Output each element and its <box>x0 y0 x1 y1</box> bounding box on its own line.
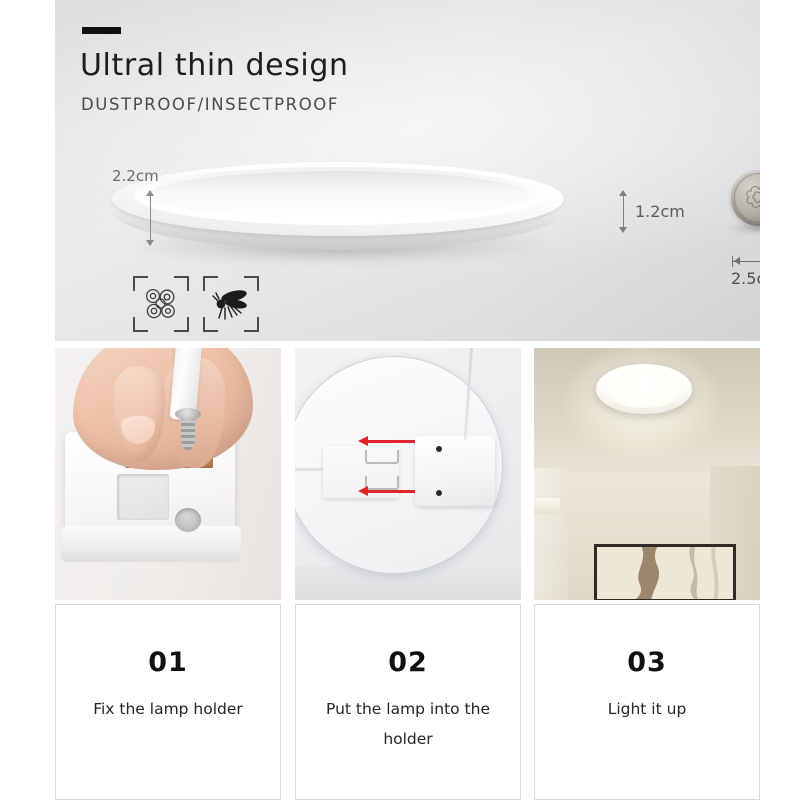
lamp-lit-face <box>603 368 685 408</box>
step-number: 02 <box>388 647 428 678</box>
step-description: Put the lamp into the holder <box>312 694 505 754</box>
coin-shadow <box>727 224 760 234</box>
arrowhead-left-icon <box>734 257 740 265</box>
step-number: 01 <box>148 647 188 678</box>
dimension-label-edge: 1.2cm <box>635 202 685 221</box>
mount-clip <box>365 476 399 490</box>
step-caption-3: 03 Light it up <box>534 604 760 800</box>
arrowhead-down-icon <box>619 227 627 233</box>
step-caption-2: 02 Put the lamp into the holder <box>295 604 521 800</box>
dimension-label-coin: 2.5cm <box>731 269 760 288</box>
artwork-abstract-icon <box>597 547 733 599</box>
step-card-1: 01 Fix the lamp holder <box>55 348 281 800</box>
arrowhead-up-icon <box>146 190 154 196</box>
direction-arrow-icon <box>367 440 415 443</box>
step-card-2: 02 Put the lamp into the holder <box>295 348 521 800</box>
holder-screw-dot <box>436 446 442 452</box>
lamp-rim <box>148 171 530 219</box>
page-subtitle: DUSTPROOF/INSECTPROOF <box>81 95 339 114</box>
step-card-3: 03 Light it up <box>534 348 760 800</box>
shelf <box>534 498 560 514</box>
arrowhead-down-icon <box>146 240 154 246</box>
insectproof-badge <box>203 276 259 332</box>
title-accent-dash <box>82 27 121 34</box>
dustproof-badge <box>133 276 189 332</box>
screw-head <box>175 408 201 420</box>
step-description: Light it up <box>551 694 744 724</box>
holder-screw-dot <box>436 490 442 496</box>
step-caption-1: 01 Fix the lamp holder <box>55 604 281 800</box>
direction-arrow-icon <box>367 490 415 493</box>
product-infographic: Ultral thin design DUSTPROOF/INSECTPROOF… <box>0 0 800 800</box>
coin-reference-image <box>731 170 760 226</box>
bracket-screw-hole <box>175 508 201 532</box>
step-number: 03 <box>627 647 667 678</box>
left-wall <box>534 468 568 600</box>
coin-flower-engraving-icon <box>742 183 761 213</box>
lamp-holder <box>415 436 495 506</box>
dimension-line-edge <box>623 193 624 230</box>
step-description: Fix the lamp holder <box>72 694 265 724</box>
framed-artwork <box>594 544 736 600</box>
installation-steps: 01 Fix the lamp holder <box>55 348 760 800</box>
arrowhead-up-icon <box>619 190 627 196</box>
bracket-cutout <box>117 474 169 520</box>
lamp-product-image <box>100 160 570 270</box>
dust-icon <box>142 285 180 323</box>
bracket-base <box>61 526 241 562</box>
insect-icon <box>212 285 250 323</box>
dimension-line-height <box>150 192 151 244</box>
step-photo-1 <box>55 348 281 600</box>
mount-clip <box>365 450 399 464</box>
dimension-label-height: 2.2cm <box>112 167 159 185</box>
step-photo-3 <box>534 348 760 600</box>
step-photo-2 <box>295 348 521 600</box>
hero-panel: Ultral thin design DUSTPROOF/INSECTPROOF… <box>55 0 760 341</box>
page-title: Ultral thin design <box>80 48 349 83</box>
